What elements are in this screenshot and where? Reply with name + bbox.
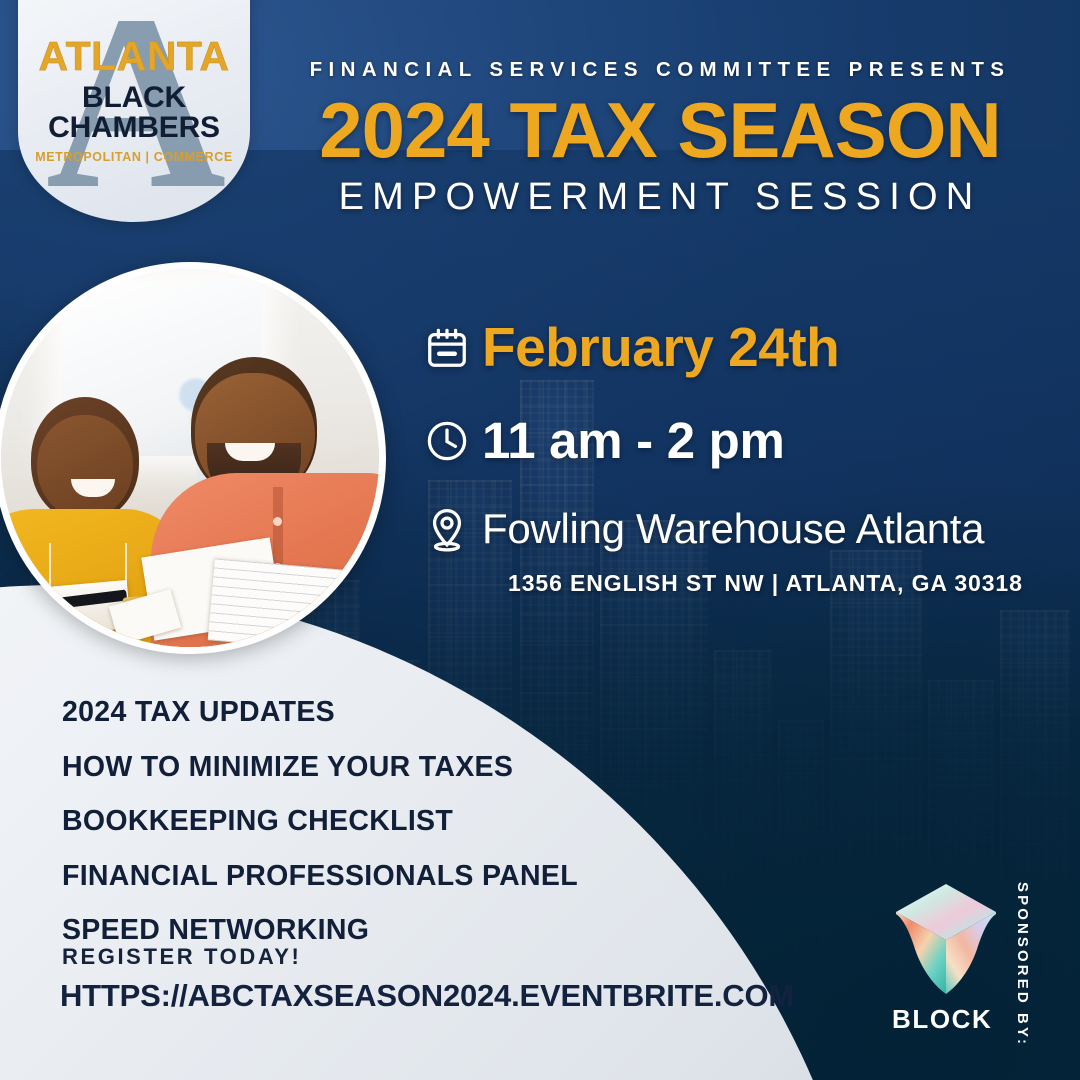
list-item: HOW TO MINIMIZE YOUR TAXES	[62, 753, 578, 782]
sponsor-name: BLOCK	[892, 1004, 992, 1035]
logo-line-black-chambers: BLACK CHAMBERS	[18, 83, 250, 143]
list-item: SPEED NETWORKING	[62, 916, 578, 945]
sponsor-block: BLOCK SPONSORED BY:	[886, 876, 1066, 1056]
atlanta-black-chambers-logo: A ATLANTA BLACK CHAMBERS METROPOLITAN | …	[18, 0, 250, 222]
photo-documents	[119, 543, 386, 647]
event-date: February 24th	[482, 320, 1024, 375]
event-venue: Fowling Warehouse Atlanta	[482, 507, 1024, 551]
clock-icon	[424, 418, 482, 464]
page-title: 2024 TAX SEASON	[290, 88, 1030, 172]
topics-list: 2024 TAX UPDATES HOW TO MINIMIZE YOUR TA…	[62, 698, 578, 971]
location-pin-icon	[424, 506, 482, 552]
logo-line-atlanta: ATLANTA	[18, 36, 250, 77]
register-label: REGISTER TODAY!	[62, 944, 301, 970]
logo-line-metropolitan-commerce: METROPOLITAN | COMMERCE	[18, 151, 250, 164]
header-kicker: FINANCIAL SERVICES COMMITTEE PRESENTS	[300, 58, 1020, 82]
event-address: 1356 ENGLISH ST NW | ATLANTA, GA 30318	[508, 570, 1023, 597]
registration-url-link[interactable]: HTTPS://ABCTAXSEASON2024.EVENTBRITE.COM	[60, 978, 794, 1014]
list-item: BOOKKEEPING CHECKLIST	[62, 807, 578, 836]
event-flyer: A ATLANTA BLACK CHAMBERS METROPOLITAN | …	[0, 0, 1080, 1080]
event-time: 11 am - 2 pm	[482, 415, 1024, 466]
event-details: February 24th 11 am - 2 pm Fowling Wareh…	[424, 320, 1024, 552]
detail-row-date: February 24th	[424, 320, 1024, 375]
list-item: 2024 TAX UPDATES	[62, 698, 578, 727]
sponsored-by-label: SPONSORED BY:	[1014, 882, 1031, 1047]
detail-row-venue: Fowling Warehouse Atlanta	[424, 506, 1024, 552]
block-cube-icon	[892, 880, 1000, 998]
header-subtitle: EMPOWERMENT SESSION	[300, 176, 1020, 219]
calendar-icon	[424, 325, 482, 371]
detail-row-time: 11 am - 2 pm	[424, 415, 1024, 466]
list-item: FINANCIAL PROFESSIONALS PANEL	[62, 862, 578, 891]
couple-photo	[0, 262, 386, 654]
